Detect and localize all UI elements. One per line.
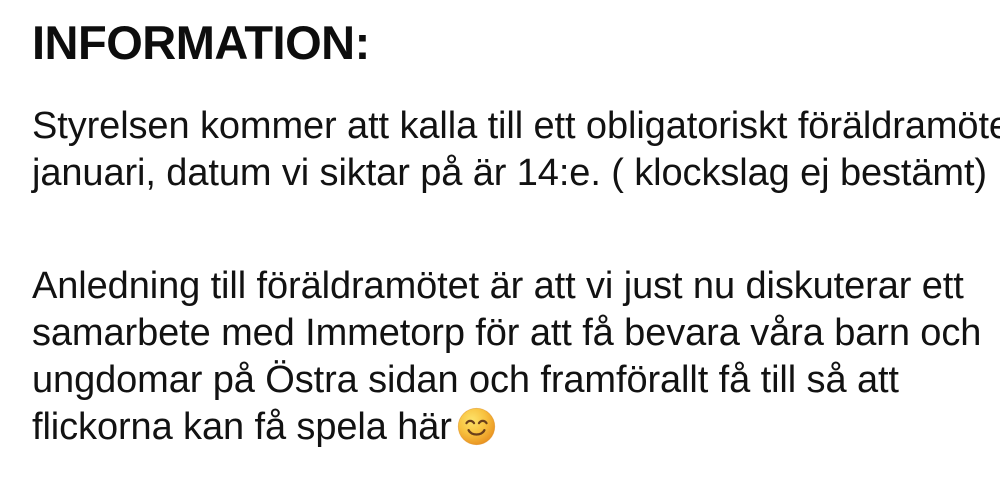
paragraph-meeting-announcement: Styrelsen kommer att kalla till ett obli…	[32, 103, 978, 197]
document-page: INFORMATION: Styrelsen kommer att kalla …	[0, 0, 1000, 497]
text-line: Anledning till föräldramötet är att vi j…	[32, 263, 978, 310]
text-line: samarbete med Immetorp för att få bevara…	[32, 310, 978, 357]
page-title: INFORMATION:	[32, 18, 370, 68]
paragraph-meeting-reason: Anledning till föräldramötet är att vi j…	[32, 263, 978, 451]
text-line-with-emoji: flickorna kan få spela här	[32, 404, 978, 451]
text-line: Styrelsen kommer att kalla till ett obli…	[32, 103, 978, 150]
text-line: januari, datum vi siktar på är 14:e. ( k…	[32, 150, 978, 197]
text-line: ungdomar på Östra sidan och framförallt …	[32, 357, 978, 404]
text-line: flickorna kan få spela här	[32, 406, 452, 448]
smiling-face-with-smiling-eyes-icon	[457, 407, 496, 446]
